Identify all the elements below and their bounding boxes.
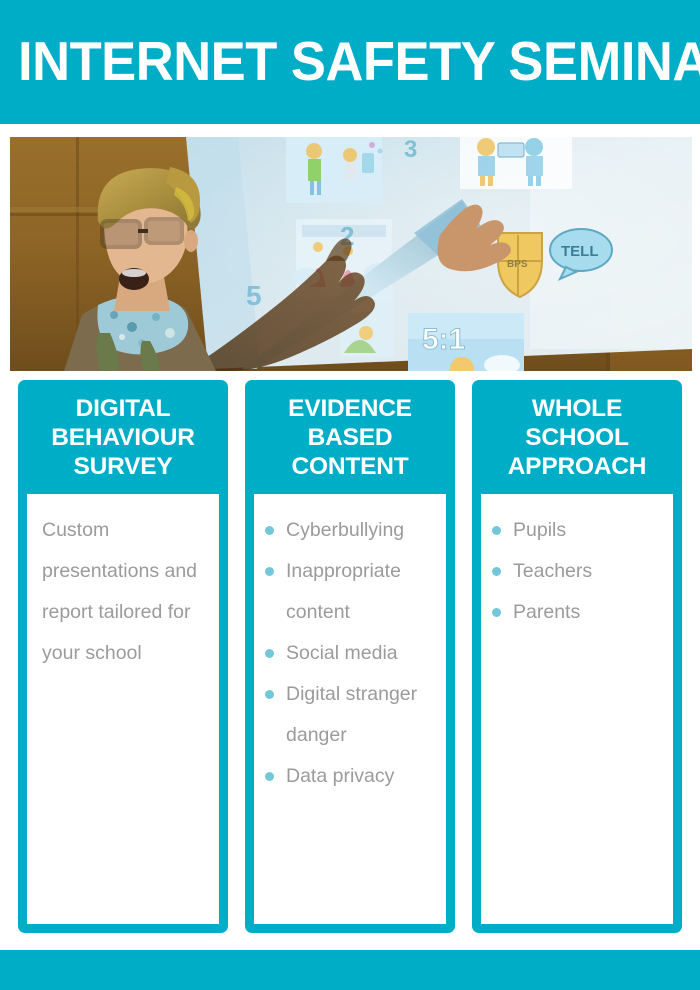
list-item-label: Digital stranger danger xyxy=(286,683,417,746)
list-item: Pupils xyxy=(491,510,659,551)
list-item: Data privacy xyxy=(264,756,432,797)
list-item-label: Parents xyxy=(513,601,580,623)
card-evidence-based-content[interactable]: EVIDENCE BASED CONTENT Cyberbullying Ina… xyxy=(245,380,455,933)
list-item-label: Data privacy xyxy=(286,765,394,787)
page-header: INTERNET SAFETY SEMINARS xyxy=(0,0,700,124)
slide-ratio-text: 5:1 xyxy=(422,323,465,356)
bullet-dot xyxy=(265,690,274,699)
list-item-label: Social media xyxy=(286,642,398,664)
list-item-label: Cyberbullying xyxy=(286,519,404,541)
list-item-label: Pupils xyxy=(513,519,566,541)
slide-ratio-panel: 5:1 xyxy=(408,313,524,371)
card-title: DIGITAL BEHAVIOUR SURVEY xyxy=(27,380,219,494)
list-item-label: Inappropriate content xyxy=(286,560,401,623)
bullet-dot xyxy=(265,649,274,658)
feature-card-row: DIGITAL BEHAVIOUR SURVEY Custom presenta… xyxy=(18,380,682,933)
hero-photo: 5 2 3 4 BPS TELL 5:1 xyxy=(10,137,692,371)
bullet-dot xyxy=(265,567,274,576)
card-digital-behaviour-survey[interactable]: DIGITAL BEHAVIOUR SURVEY Custom presenta… xyxy=(18,380,228,933)
card-title: WHOLE SCHOOL APPROACH xyxy=(481,380,673,494)
card-whole-school-approach[interactable]: WHOLE SCHOOL APPROACH Pupils Teachers Pa… xyxy=(472,380,682,933)
card-body: Pupils Teachers Parents xyxy=(481,494,673,924)
bullet-dot xyxy=(265,772,274,781)
list-item: Cyberbullying xyxy=(264,510,432,551)
svg-text:BPS: BPS xyxy=(507,259,528,270)
card-title: EVIDENCE BASED CONTENT xyxy=(254,380,446,494)
bullet-dot xyxy=(265,526,274,535)
card-body: Cyberbullying Inappropriate content Soci… xyxy=(254,494,446,924)
list-item: Teachers xyxy=(491,551,659,592)
bullet-dot xyxy=(492,526,501,535)
poster-page: INTERNET SAFETY SEMINARS xyxy=(0,0,700,990)
hero-photo-illustration: 5 2 3 4 BPS TELL 5:1 xyxy=(10,137,692,371)
card-paragraph: Custom presentations and report tailored… xyxy=(37,510,205,674)
list-item: Parents xyxy=(491,592,659,633)
list-item: Inappropriate content xyxy=(264,551,432,633)
page-footer xyxy=(0,950,700,990)
card-body: Custom presentations and report tailored… xyxy=(27,494,219,924)
list-item: Digital stranger danger xyxy=(264,674,432,756)
card-bullet-list: Cyberbullying Inappropriate content Soci… xyxy=(264,510,432,797)
list-item: Social media xyxy=(264,633,432,674)
slide-cartoon-right xyxy=(460,137,572,189)
slide-tell-text: TELL xyxy=(561,243,599,260)
page-title: INTERNET SAFETY SEMINARS xyxy=(18,31,658,91)
bullet-dot xyxy=(492,608,501,617)
bullet-dot xyxy=(492,567,501,576)
card-bullet-list: Pupils Teachers Parents xyxy=(491,510,659,633)
list-item-label: Teachers xyxy=(513,560,592,582)
slide-cartoon-left xyxy=(286,137,383,203)
slide-number-3: 3 xyxy=(404,137,417,163)
slide-number-5: 5 xyxy=(246,280,262,311)
